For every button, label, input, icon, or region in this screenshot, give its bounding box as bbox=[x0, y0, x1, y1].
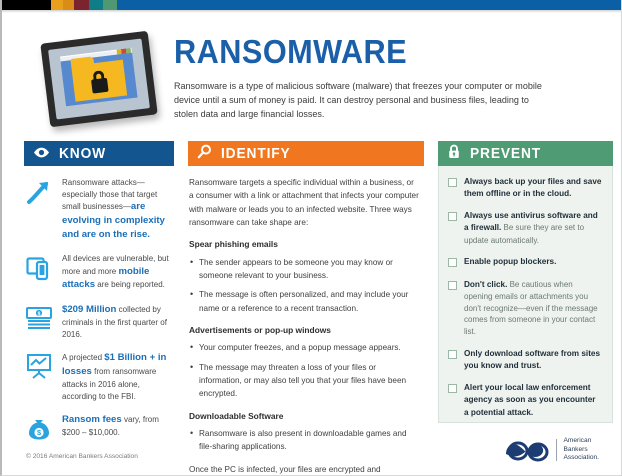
prevent-item-text: Enable popup blockers. bbox=[464, 256, 556, 268]
prevent-item-text: Always back up your files and save them … bbox=[464, 176, 602, 200]
upward-arrow-icon bbox=[24, 177, 54, 207]
identify-subhead: Spear phishing emails bbox=[189, 238, 420, 252]
prevent-item[interactable]: Only download software from sites you kn… bbox=[448, 348, 602, 372]
prevent-checkbox[interactable] bbox=[448, 350, 457, 359]
identify-subhead: Advertisements or pop-up windows bbox=[189, 324, 420, 338]
know-item-list: Ransomware attacks—especially those that… bbox=[24, 166, 174, 443]
identify-bullet: Your computer freezes, and a popup messa… bbox=[189, 341, 420, 354]
identify-subhead: Downloadable Software bbox=[189, 410, 420, 424]
column-identify: IDENTIFY Ransomware targets a specific i… bbox=[188, 141, 424, 423]
aba-wordmark-line2: Bankers bbox=[563, 446, 587, 453]
tablet-bezel bbox=[48, 39, 150, 120]
know-item: $ $209 Million collected by criminals in… bbox=[24, 303, 174, 340]
prevent-text-bold: Enable popup blockers. bbox=[464, 257, 556, 266]
magnifier-icon bbox=[197, 144, 212, 164]
infographic-page: RANSOMWARE Ransomware is a type of malic… bbox=[0, 0, 622, 476]
prevent-text-bold: Alert your local law enforcement agency … bbox=[464, 383, 596, 416]
identify-bullet-list: The sender appears to be someone you may… bbox=[189, 256, 420, 315]
color-segment-black bbox=[2, 0, 51, 10]
copyright-text: © 2016 American Bankers Association bbox=[26, 441, 138, 460]
footer: © 2016 American Bankers Association Amer… bbox=[2, 425, 621, 475]
identify-group: Advertisements or pop-up windows Your co… bbox=[189, 324, 420, 401]
prevent-checkbox[interactable] bbox=[448, 212, 457, 221]
header-illustration bbox=[24, 31, 174, 121]
banknotes-icon: $ bbox=[24, 303, 54, 333]
section-header-know: KNOW bbox=[24, 141, 174, 166]
know-text-bold: Ransom fees bbox=[62, 414, 122, 425]
column-prevent: PREVENT Always back up your files and sa… bbox=[438, 141, 613, 423]
color-segment-gold bbox=[51, 0, 63, 10]
aba-logo: American Bankers Association. bbox=[504, 437, 599, 464]
identify-bullet-list: Your computer freezes, and a popup messa… bbox=[189, 341, 420, 400]
prevent-item[interactable]: Don't click. Be cautious when opening em… bbox=[448, 279, 602, 338]
padlock-body bbox=[91, 77, 109, 93]
prevent-item[interactable]: Always use antivirus software and a fire… bbox=[448, 210, 602, 246]
prevent-item[interactable]: Always back up your files and save them … bbox=[448, 176, 602, 200]
section-label-prevent: PREVENT bbox=[470, 146, 541, 162]
color-segment-blue bbox=[117, 0, 621, 10]
svg-text:$: $ bbox=[38, 312, 41, 318]
prevent-item[interactable]: Enable popup blockers. bbox=[448, 256, 602, 268]
tablet-locked-folder-icon bbox=[40, 31, 157, 128]
chart-easel-icon bbox=[24, 351, 54, 381]
know-text-plain-before: All devices are vulnerable, but more and… bbox=[62, 254, 169, 276]
eye-icon bbox=[33, 145, 50, 163]
prevent-item-text: Don't click. Be cautious when opening em… bbox=[464, 279, 602, 338]
know-item: Ransomware attacks—especially those that… bbox=[24, 177, 174, 242]
know-item-text: All devices are vulnerable, but more and… bbox=[62, 253, 174, 292]
color-segment-orange bbox=[63, 0, 74, 10]
prevent-text-bold: Always back up your files and save them … bbox=[464, 177, 601, 198]
identify-intro: Ransomware targets a specific individual… bbox=[189, 176, 420, 229]
prevent-checkbox[interactable] bbox=[448, 258, 457, 267]
devices-icon bbox=[24, 253, 54, 283]
know-item: All devices are vulnerable, but more and… bbox=[24, 253, 174, 292]
know-item-text: $209 Million collected by criminals in t… bbox=[62, 303, 174, 340]
prevent-item[interactable]: Alert your local law enforcement agency … bbox=[448, 382, 602, 418]
prevent-text-bold: Only download software from sites you kn… bbox=[464, 349, 600, 370]
prevent-checkbox[interactable] bbox=[448, 281, 457, 290]
folder-icon bbox=[71, 59, 127, 101]
prevent-text-bold: Don't click. bbox=[464, 280, 507, 289]
column-know: KNOW Ransomware attacks—especially those… bbox=[24, 141, 174, 423]
identify-bullet: The sender appears to be someone you may… bbox=[189, 256, 420, 283]
section-label-identify: IDENTIFY bbox=[221, 146, 291, 162]
top-color-bar bbox=[2, 0, 621, 10]
aba-monogram-icon bbox=[504, 438, 550, 462]
prevent-checkbox[interactable] bbox=[448, 178, 457, 187]
know-text-plain-after: are being reported. bbox=[95, 280, 165, 289]
aba-wordmark-line3: Association. bbox=[563, 454, 599, 461]
prevent-item-text: Only download software from sites you kn… bbox=[464, 348, 602, 372]
content-columns: KNOW Ransomware attacks—especially those… bbox=[2, 141, 621, 423]
know-item: A projected $1 Billion + in losses from … bbox=[24, 351, 174, 402]
prevent-checklist: Always back up your files and save them … bbox=[438, 166, 613, 423]
folder-tab bbox=[70, 56, 94, 67]
section-header-prevent: PREVENT bbox=[438, 141, 613, 166]
aba-wordmark-line1: American bbox=[563, 437, 591, 444]
aba-wordmark: American Bankers Association. bbox=[563, 437, 599, 464]
header-intro: Ransomware is a type of malicious softwa… bbox=[174, 79, 554, 122]
prevent-checkbox[interactable] bbox=[448, 384, 457, 393]
page-title: RANSOMWARE bbox=[174, 35, 571, 70]
color-segment-teal bbox=[89, 0, 103, 10]
header-text: RANSOMWARE Ransomware is a type of malic… bbox=[174, 31, 601, 122]
identify-group: Spear phishing emails The sender appears… bbox=[189, 238, 420, 315]
padlock-icon bbox=[447, 144, 461, 164]
know-item-text: A projected $1 Billion + in losses from … bbox=[62, 351, 174, 402]
section-header-identify: IDENTIFY bbox=[188, 141, 424, 166]
color-segment-green bbox=[103, 0, 117, 10]
know-text-plain-before: A projected bbox=[62, 353, 104, 362]
identify-bullet: The message may threaten a loss of your … bbox=[189, 361, 420, 401]
logo-divider bbox=[556, 439, 557, 461]
color-segment-maroon bbox=[74, 0, 89, 10]
know-item-text: Ransomware attacks—especially those that… bbox=[62, 177, 174, 242]
section-label-know: KNOW bbox=[59, 146, 106, 162]
identify-bullet: The message is often personalized, and m… bbox=[189, 288, 420, 315]
prevent-item-text: Alert your local law enforcement agency … bbox=[464, 382, 602, 418]
tablet-screen bbox=[61, 53, 138, 106]
know-text-bold: $209 Million bbox=[62, 304, 116, 315]
header: RANSOMWARE Ransomware is a type of malic… bbox=[2, 13, 621, 141]
prevent-item-text: Always use antivirus software and a fire… bbox=[464, 210, 602, 246]
